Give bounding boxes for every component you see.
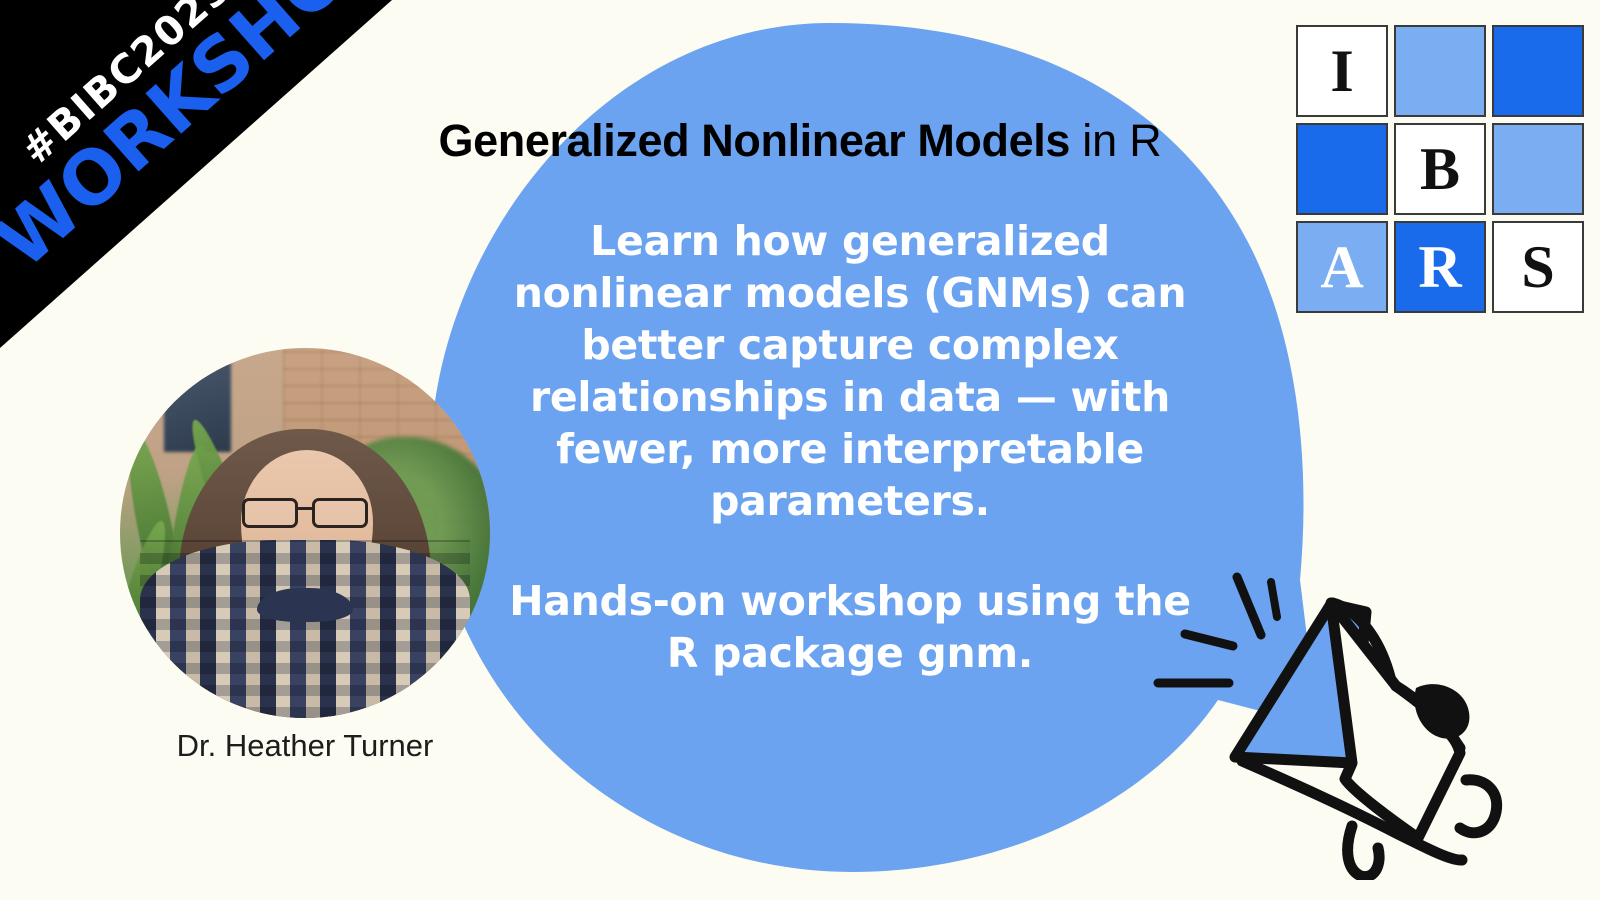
bubble-body-text: Learn how generalized nonlinear models (… bbox=[500, 215, 1200, 680]
logo-tile: S bbox=[1492, 221, 1584, 313]
speaker-name: Dr. Heather Turner bbox=[70, 728, 540, 764]
bubble-paragraph-2: Hands-on workshop using the R package gn… bbox=[500, 575, 1200, 679]
logo-tile bbox=[1492, 25, 1584, 117]
logo-tile: A bbox=[1296, 221, 1388, 313]
megaphone-burst-line bbox=[1271, 582, 1277, 617]
logo-tile: I bbox=[1296, 25, 1388, 117]
logo-tile bbox=[1492, 123, 1584, 215]
megaphone-burst-line bbox=[1185, 634, 1233, 646]
logo-tile: R bbox=[1394, 221, 1486, 313]
megaphone-burst-line bbox=[1237, 577, 1261, 635]
avatar bbox=[120, 348, 490, 718]
logo-tile: B bbox=[1394, 123, 1486, 215]
bubble-paragraph-1: Learn how generalized nonlinear models (… bbox=[500, 215, 1200, 527]
photo-glasses-lens bbox=[312, 498, 368, 528]
ibars-logo[interactable]: I B A R S bbox=[1296, 25, 1584, 313]
logo-tile bbox=[1296, 123, 1388, 215]
megaphone-icon bbox=[1130, 520, 1600, 880]
photo-glasses-lens bbox=[242, 498, 298, 528]
megaphone-handle-loop bbox=[1348, 826, 1379, 877]
photo-sweater bbox=[140, 540, 470, 718]
photo-collar bbox=[257, 588, 353, 622]
megaphone-handle-loop bbox=[1460, 780, 1497, 833]
page-title-main: Generalized Nonlinear Models bbox=[439, 115, 1070, 166]
corner-ribbon: #BIBC2025 WORKSHOP bbox=[0, 0, 400, 360]
photo-glasses bbox=[241, 498, 369, 524]
logo-tile bbox=[1394, 25, 1486, 117]
ribbon-triangle bbox=[0, 0, 400, 360]
workshop-promo-poster: #BIBC2025 WORKSHOP Generalized Nonlinear… bbox=[0, 0, 1600, 900]
page-title-tail: in R bbox=[1070, 115, 1162, 166]
